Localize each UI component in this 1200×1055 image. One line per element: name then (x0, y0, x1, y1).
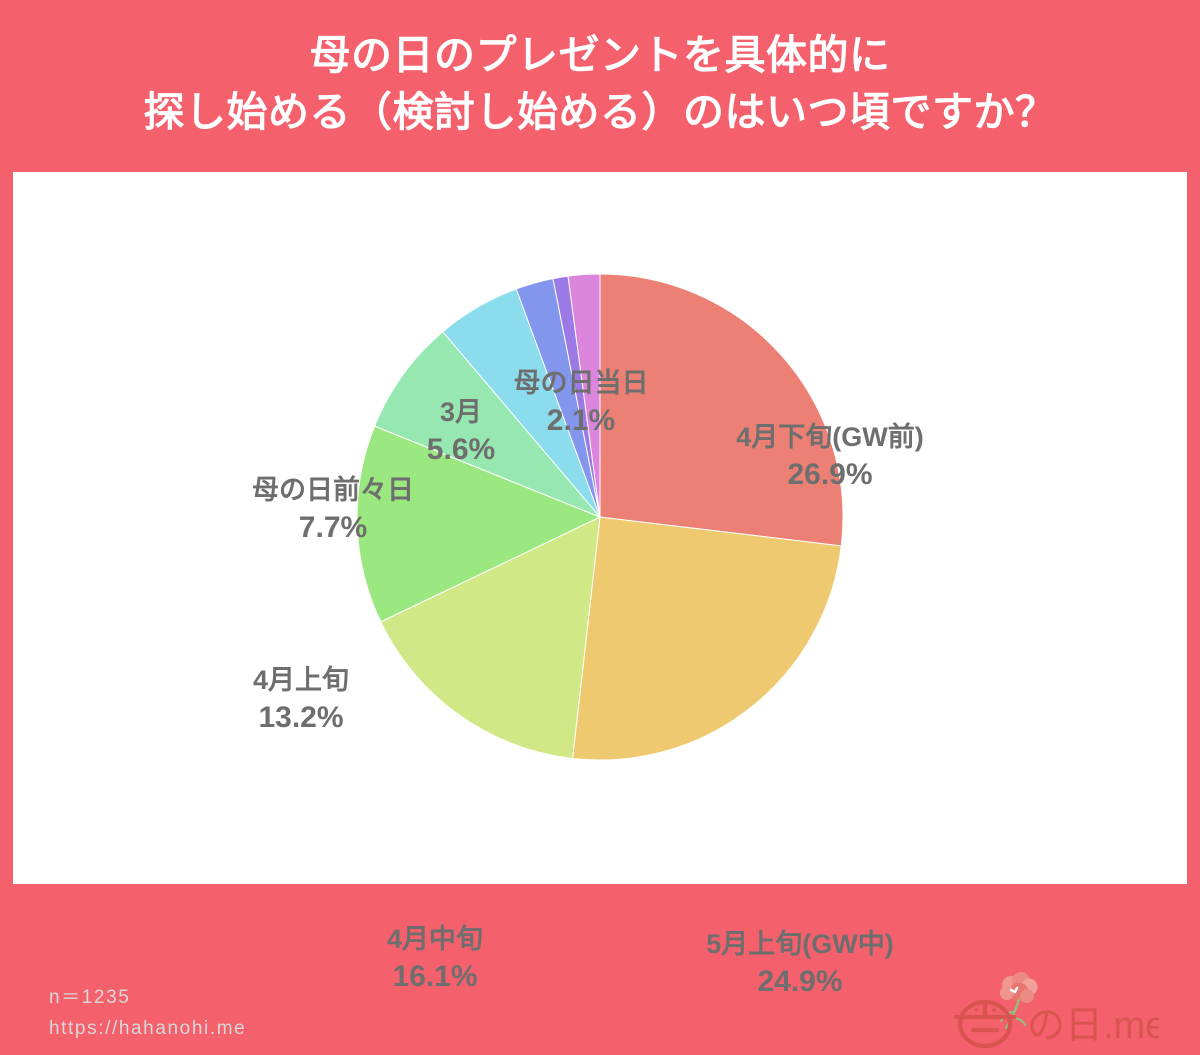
pie-label-name: 3月 (427, 397, 495, 429)
header-banner: 母の日のプレゼントを具体的に 探し始める（検討し始める）のはいつ頃ですか？ (0, 0, 1200, 168)
pie-label-name: 4月下旬(GW前) (736, 422, 923, 454)
pie-label-name: 4月中旬 (387, 924, 483, 956)
pie-label-name: 母の日前々日 (252, 475, 414, 507)
pie-slice-group (357, 274, 843, 760)
pie-label-3gatsu: 3月 5.6% (427, 397, 495, 467)
pie-slice (573, 517, 842, 760)
site-logo: の日.me (949, 972, 1159, 1050)
pie-label-name: 5月上旬(GW中) (706, 929, 893, 961)
footer-note: n＝1235 https://hahanohi.me (49, 982, 246, 1045)
logo-svg: の日.me (949, 972, 1159, 1050)
pie-label-value: 13.2% (253, 700, 349, 735)
pie-label-4gatsu-jojun: 4月上旬 13.2% (253, 665, 349, 735)
pie-label-5gatsu-jojun: 5月上旬(GW中) 24.9% (706, 929, 893, 999)
pie-label-name: 4月上旬 (253, 665, 349, 697)
logo-text: の日.me (1027, 1005, 1159, 1047)
page-title-line-2: 探し始める（検討し始める）のはいつ頃ですか？ (144, 84, 1057, 141)
pie-chart-svg (13, 172, 1187, 884)
pie-label-hahanohi-tojitsu: 母の日当日 2.1% (514, 368, 649, 438)
pie-label-4gatsu-chujun: 4月中旬 16.1% (387, 924, 483, 994)
pie-label-value: 26.9% (736, 457, 923, 492)
pie-label-hahanohi-zenzenjitsu: 母の日前々日 7.7% (252, 475, 414, 545)
sample-size-text: n＝1235 (49, 982, 246, 1013)
pie-label-value: 5.6% (427, 432, 495, 467)
pie-label-value: 24.9% (706, 964, 893, 999)
pie-label-value: 16.1% (387, 959, 483, 994)
pie-label-name: 母の日当日 (514, 368, 649, 400)
pie-chart: 4月下旬(GW前) 26.9% 5月上旬(GW中) 24.9% 4月中旬 16.… (13, 172, 1187, 884)
pie-label-value: 7.7% (252, 510, 414, 545)
pie-label-4gatsu-gejun: 4月下旬(GW前) 26.9% (736, 422, 923, 492)
pie-label-value: 2.1% (514, 403, 649, 438)
page-title-line-1: 母の日のプレゼントを具体的に (310, 27, 891, 84)
logo-kanji-haha (956, 1002, 1014, 1046)
source-url-text: https://hahanohi.me (49, 1013, 246, 1044)
chart-card: 4月下旬(GW前) 26.9% 5月上旬(GW中) 24.9% 4月中旬 16.… (13, 172, 1187, 884)
